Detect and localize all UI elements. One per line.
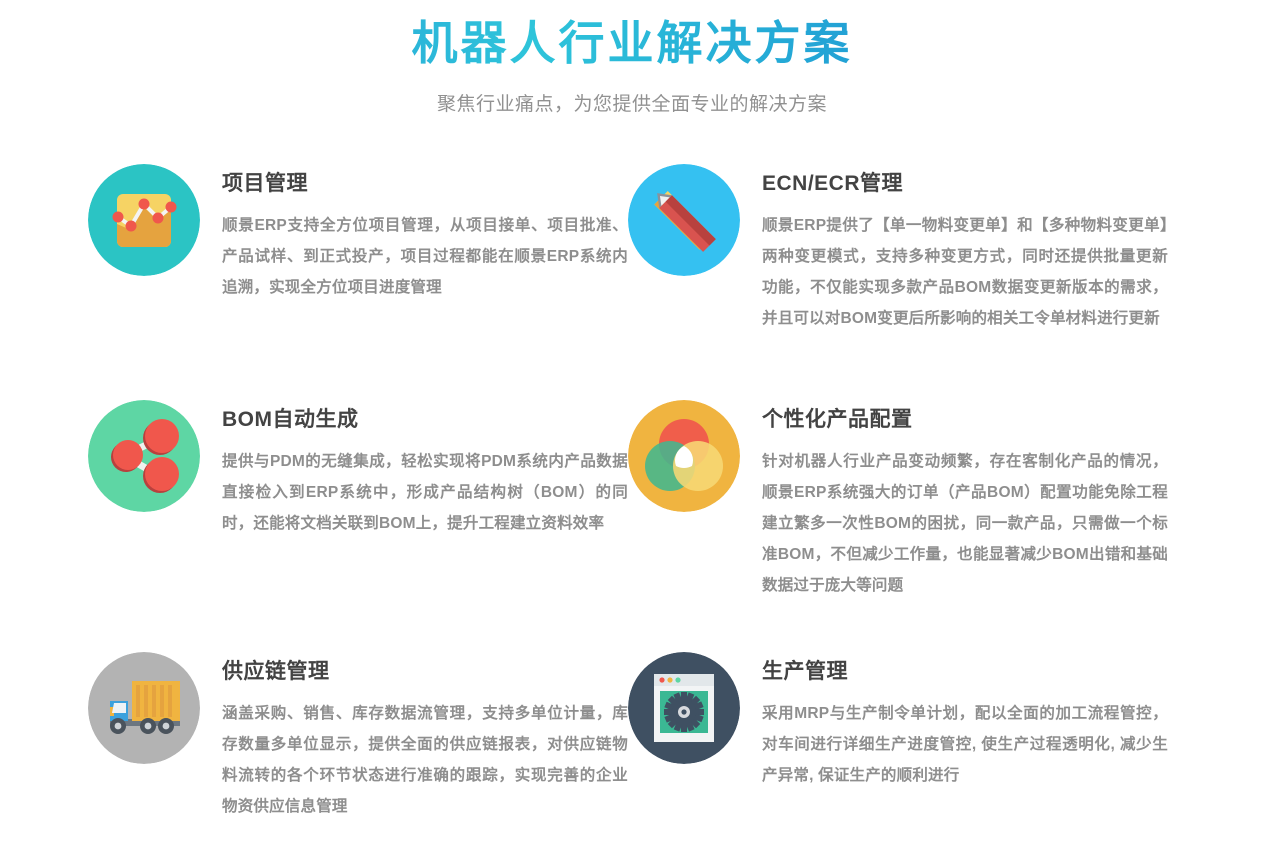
solutions-page: 机器人行业解决方案 聚焦行业痛点，为您提供全面专业的解决方案 项	[0, 0, 1264, 860]
feature-card-ecn-ecr-management[interactable]: ECN/ECR管理 顺景ERP提供了【单一物料变更单】和【多种物料变更单】两种变…	[628, 164, 1168, 400]
feature-body: 项目管理 顺景ERP支持全方位项目管理，从项目接单、项目批准、产品试样、到正式投…	[222, 164, 628, 303]
feature-body: 供应链管理 涵盖采购、销售、库存数据流管理，支持多单位计量，库存数量多单位显示，…	[222, 652, 628, 822]
feature-card-product-configuration[interactable]: 个性化产品配置 针对机器人行业产品变动频繁，存在客制化产品的情况，顺景ERP系统…	[628, 400, 1168, 652]
feature-card-bom-generation[interactable]: BOM自动生成 提供与PDM的无缝集成，轻松实现将PDM系统内产品数据直接检入到…	[88, 400, 628, 652]
feature-title: 个性化产品配置	[762, 406, 1168, 434]
feature-body: ECN/ECR管理 顺景ERP提供了【单一物料变更单】和【多种物料变更单】两种变…	[762, 164, 1168, 334]
browser-gear-icon	[628, 652, 740, 764]
feature-body: 个性化产品配置 针对机器人行业产品变动频繁，存在客制化产品的情况，顺景ERP系统…	[762, 400, 1168, 601]
share-nodes-icon	[88, 400, 200, 512]
feature-description: 针对机器人行业产品变动频繁，存在客制化产品的情况，顺景ERP系统强大的订单（产品…	[762, 446, 1168, 601]
feature-title: ECN/ECR管理	[762, 170, 1168, 198]
feature-body: 生产管理 采用MRP与生产制令单计划，配以全面的加工流程管控，对车间进行详细生产…	[762, 652, 1168, 791]
feature-card-supply-chain-management[interactable]: 供应链管理 涵盖采购、销售、库存数据流管理，支持多单位计量，库存数量多单位显示，…	[88, 652, 628, 832]
page-header: 机器人行业解决方案 聚焦行业痛点，为您提供全面专业的解决方案	[0, 0, 1264, 118]
feature-title: 供应链管理	[222, 658, 628, 686]
feature-card-production-management[interactable]: 生产管理 采用MRP与生产制令单计划，配以全面的加工流程管控，对车间进行详细生产…	[628, 652, 1168, 832]
feature-description: 涵盖采购、销售、库存数据流管理，支持多单位计量，库存数量多单位显示，提供全面的供…	[222, 698, 628, 822]
project-chart-icon	[88, 164, 200, 276]
venn-circles-icon	[628, 400, 740, 512]
delivery-truck-icon	[88, 652, 200, 764]
feature-title: BOM自动生成	[222, 406, 628, 434]
feature-description: 提供与PDM的无缝集成，轻松实现将PDM系统内产品数据直接检入到ERP系统中，形…	[222, 446, 628, 539]
page-subtitle: 聚焦行业痛点，为您提供全面专业的解决方案	[0, 92, 1264, 118]
feature-title: 生产管理	[762, 658, 1168, 686]
pencil-ruler-icon	[628, 164, 740, 276]
feature-body: BOM自动生成 提供与PDM的无缝集成，轻松实现将PDM系统内产品数据直接检入到…	[222, 400, 628, 539]
feature-grid: 项目管理 顺景ERP支持全方位项目管理，从项目接单、项目批准、产品试样、到正式投…	[0, 164, 1264, 832]
feature-card-project-management[interactable]: 项目管理 顺景ERP支持全方位项目管理，从项目接单、项目批准、产品试样、到正式投…	[88, 164, 628, 400]
page-title: 机器人行业解决方案	[0, 12, 1264, 74]
feature-description: 顺景ERP提供了【单一物料变更单】和【多种物料变更单】两种变更模式，支持多种变更…	[762, 210, 1168, 334]
feature-description: 采用MRP与生产制令单计划，配以全面的加工流程管控，对车间进行详细生产进度管控,…	[762, 698, 1168, 791]
feature-title: 项目管理	[222, 170, 628, 198]
feature-description: 顺景ERP支持全方位项目管理，从项目接单、项目批准、产品试样、到正式投产，项目过…	[222, 210, 628, 303]
